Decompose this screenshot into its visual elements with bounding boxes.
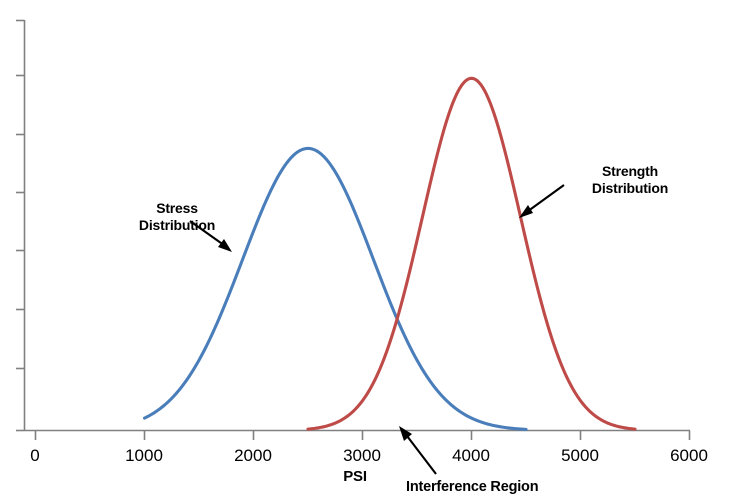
strength-distribution-curve: [308, 78, 635, 429]
x-tick-label-4000: 4000: [436, 446, 506, 466]
x-tick-label-2000: 2000: [218, 446, 288, 466]
stress-distribution-curve: [145, 148, 527, 429]
interference-arrow-icon: [399, 426, 436, 474]
data-curves: [145, 78, 636, 429]
x-tick-label-5000: 5000: [545, 446, 615, 466]
x-tick-label-3000: 3000: [327, 446, 397, 466]
interference-region-label: Interference Region: [406, 479, 538, 496]
x-axis-title: PSI: [300, 468, 410, 486]
x-tick-label-0: 0: [0, 446, 70, 466]
stress-strength-interference-chart: 0 1000 2000 3000 4000 5000 6000 Stress D…: [0, 0, 738, 503]
strength-distribution-label: Strength Distribution: [570, 163, 690, 196]
y-axis-ticks: [16, 21, 25, 431]
chart-plot-area: [0, 0, 738, 503]
strength-arrow-icon: [519, 185, 564, 218]
x-tick-label-1000: 1000: [109, 446, 179, 466]
x-axis-ticks: [36, 431, 690, 441]
stress-distribution-label: Stress Distribution: [112, 200, 242, 233]
x-tick-label-6000: 6000: [654, 446, 724, 466]
